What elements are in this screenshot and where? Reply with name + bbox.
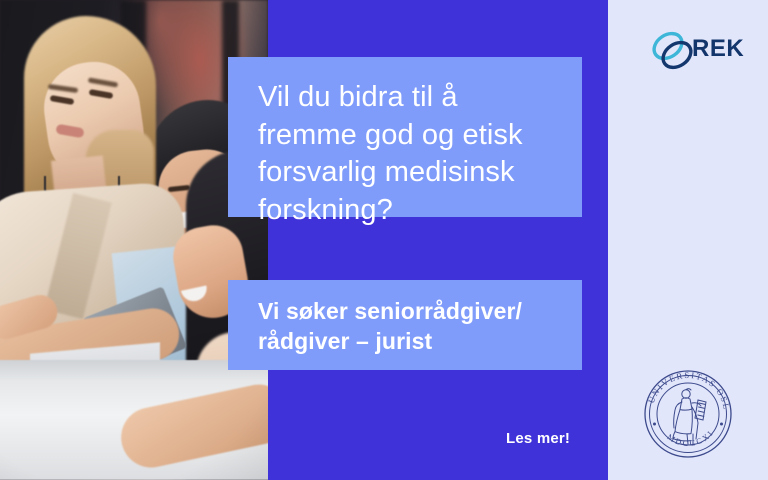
uio-seal-icon: UNIVERSITAS OSLOENSIS MDCCCXI <box>636 362 740 466</box>
subheadline-text: Vi søker seniorrådgiver/ rådgiver – juri… <box>258 296 554 357</box>
recruitment-banner: Vil du bidra til å fremme god og etisk f… <box>0 0 768 480</box>
rek-logo[interactable]: REK <box>648 28 740 74</box>
headline-box: Vil du bidra til å fremme god og etisk f… <box>228 57 582 217</box>
subheadline-box: Vi søker seniorrådgiver/ rådgiver – juri… <box>228 280 582 370</box>
rek-wordmark: REK <box>692 35 744 63</box>
uio-seal: UNIVERSITAS OSLOENSIS MDCCCXI <box>636 362 740 466</box>
headline-text: Vil du bidra til å fremme god og etisk f… <box>258 79 554 230</box>
read-more-link[interactable]: Les mer! <box>506 430 570 447</box>
